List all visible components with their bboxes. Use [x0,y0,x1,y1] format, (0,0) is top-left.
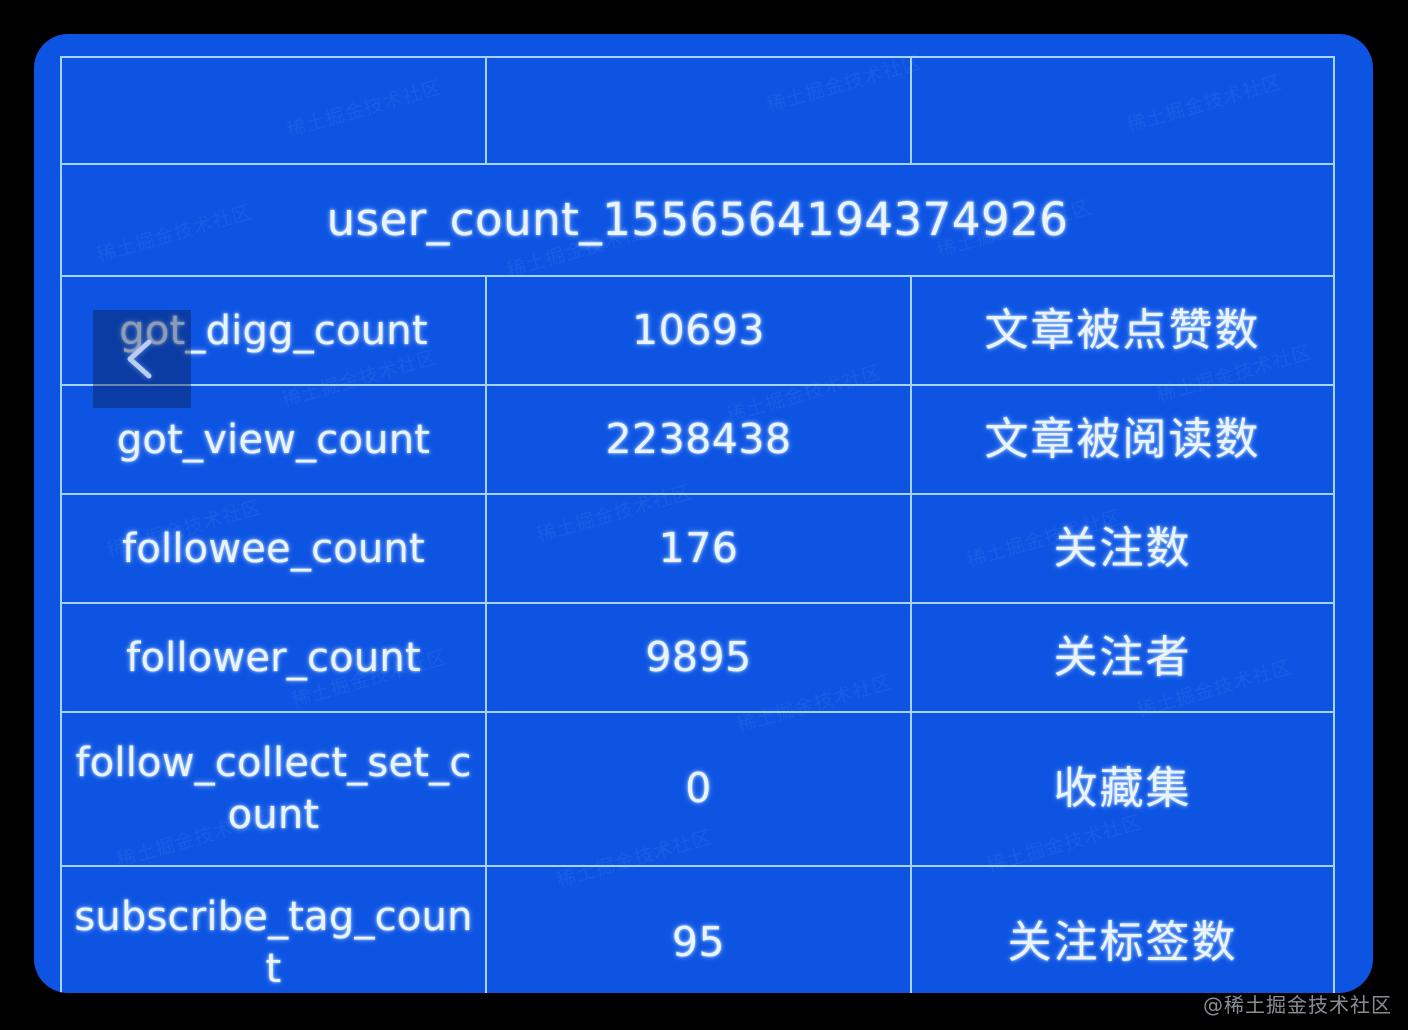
row-desc: 关注者 [911,603,1334,712]
row-value: 176 [486,494,911,603]
spacer-cell-3 [911,57,1334,164]
row-desc: 文章被阅读数 [911,385,1334,494]
table-row: subscribe_tag_count 95 关注标签数 [61,866,1334,993]
row-value: 95 [486,866,911,993]
row-value: 0 [486,712,911,866]
table-title: user_count_1556564194374926 [61,164,1334,276]
back-button[interactable] [93,310,191,408]
user-stats-table-wrapper: user_count_1556564194374926 got_digg_cou… [60,56,1333,970]
table-row: follower_count 9895 关注者 [61,603,1334,712]
spacer-cell-2 [486,57,911,164]
screen-root: 稀土掘金技术社区 稀土掘金技术社区 稀土掘金技术社区 稀土掘金技术社区 稀土掘金… [0,0,1408,1030]
table-row: got_view_count 2238438 文章被阅读数 [61,385,1334,494]
row-desc: 关注标签数 [911,866,1334,993]
table-row-title: user_count_1556564194374926 [61,164,1334,276]
community-watermark: @稀土掘金技术社区 [1203,989,1392,1018]
spacer-cell-1 [61,57,486,164]
row-key: followee_count [61,494,486,603]
row-value: 2238438 [486,385,911,494]
table-row: got_digg_count 10693 文章被点赞数 [61,276,1334,385]
row-key: follow_collect_set_count [61,712,486,866]
stats-card: 稀土掘金技术社区 稀土掘金技术社区 稀土掘金技术社区 稀土掘金技术社区 稀土掘金… [34,34,1373,993]
row-desc: 关注数 [911,494,1334,603]
row-key: subscribe_tag_count [61,866,486,993]
table-row-spacer [61,57,1334,164]
row-desc: 收藏集 [911,712,1334,866]
chevron-left-icon [115,332,169,386]
user-stats-table: user_count_1556564194374926 got_digg_cou… [60,56,1335,993]
table-row: follow_collect_set_count 0 收藏集 [61,712,1334,866]
table-row: followee_count 176 关注数 [61,494,1334,603]
row-key: follower_count [61,603,486,712]
row-value: 10693 [486,276,911,385]
row-value: 9895 [486,603,911,712]
row-desc: 文章被点赞数 [911,276,1334,385]
